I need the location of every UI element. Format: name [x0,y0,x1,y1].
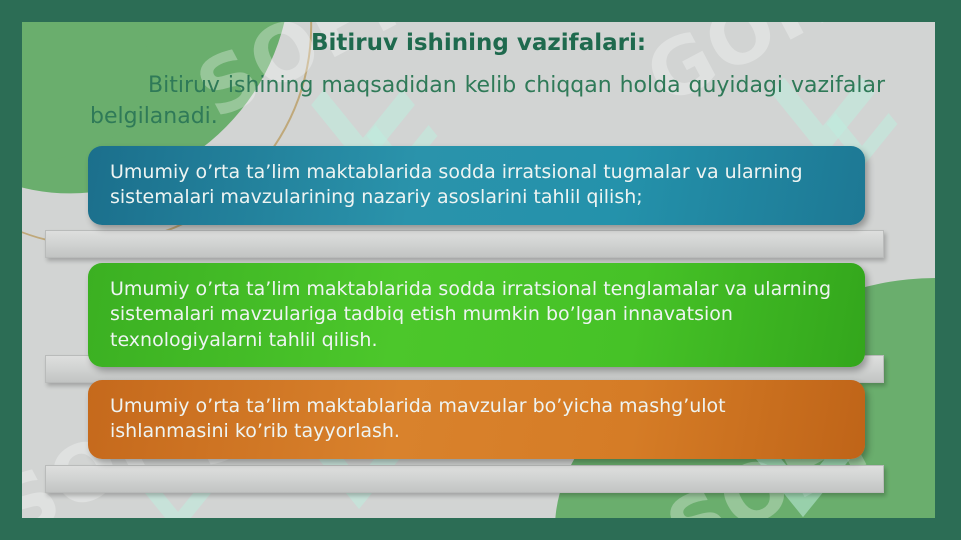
decor-gold-curve [22,22,334,264]
task-shelf-3 [45,465,884,493]
presentation-slide: SOFI GOR SOFI GOR SOFI SOFI Bitiruv ishi… [0,0,961,540]
task-card-2[interactable]: Umumiy o’rta ta’lim maktablarida sodda i… [88,263,865,367]
task-card-2-text: Umumiy o’rta ta’lim maktablarida sodda i… [110,278,831,351]
task-card-1-text: Umumiy o’rta ta’lim maktablarida sodda i… [110,161,803,208]
task-card-3[interactable]: Umumiy o’rta ta’lim maktablarida mavzula… [88,380,865,459]
task-shelf-1 [45,230,884,258]
slide-intro-paragraph: Bitiruv ishining maqsadidan kelib chiqqa… [90,70,885,132]
task-card-3-text: Umumiy o’rta ta’lim maktablarida mavzula… [110,395,726,442]
slide-title: Bitiruv ishining vazifalari: [22,30,935,56]
task-card-1[interactable]: Umumiy o’rta ta’lim maktablarida sodda i… [88,146,865,225]
slide-content-panel: SOFI GOR SOFI GOR SOFI SOFI Bitiruv ishi… [22,22,935,518]
